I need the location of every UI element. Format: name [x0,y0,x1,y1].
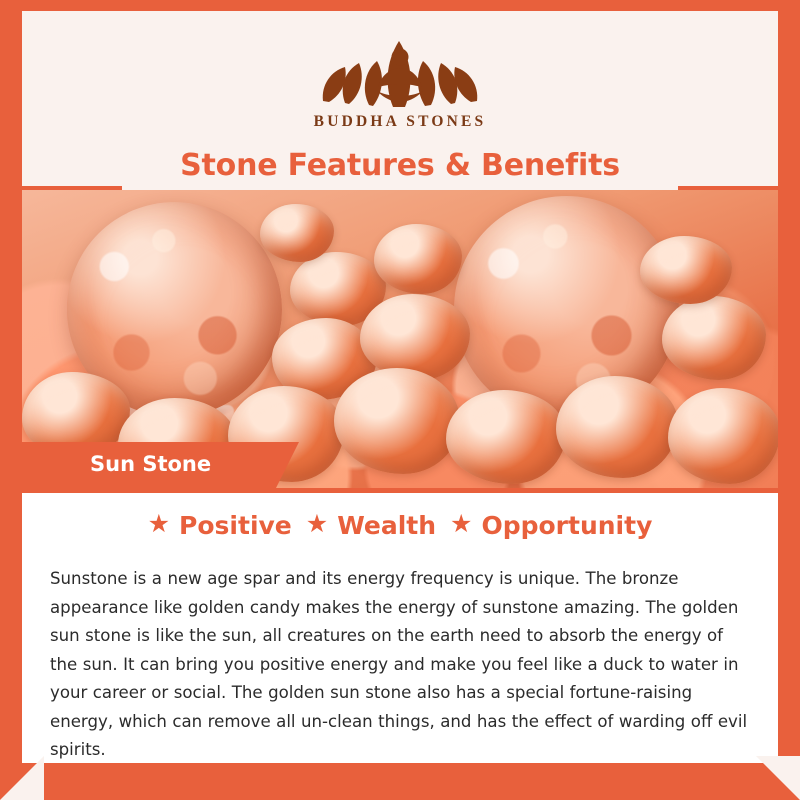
stone-name-tab: Sun Stone [22,442,276,488]
brand-logo-block: BUDDHA STONES [22,27,778,131]
keyword-label: Opportunity [481,511,652,540]
keyword-item-opportunity: ★ Opportunity [450,511,652,540]
page-title: Stone Features & Benefits [180,148,620,183]
corner-notch-left [0,756,44,800]
tumbled-stone [668,388,778,484]
lotus-meditation-icon [22,27,778,111]
tumbled-stone [640,236,732,304]
star-icon: ★ [450,512,472,537]
star-icon: ★ [306,512,328,537]
brand-name: BUDDHA STONES [22,113,778,131]
tumbled-stone [374,224,462,294]
tumbled-stone [662,296,766,380]
corner-notch-right [756,756,800,800]
tumbled-stone [360,294,470,380]
page-title-bar: Stone Features & Benefits [122,140,678,190]
stone-name-label: Sun Stone [90,452,211,476]
infographic-page: BUDDHA STONES Stone Features & Benefits … [0,0,800,800]
keyword-item-wealth: ★ Wealth [306,511,436,540]
tumbled-stone [446,390,566,484]
description-paragraph: Sunstone is a new age spar and its energ… [50,565,750,765]
tumbled-stone [260,204,334,262]
tumbled-stone [556,376,678,478]
keyword-row: ★ Positive ★ Wealth ★ Opportunity [22,511,778,540]
tumbled-stone [334,368,460,474]
description-panel: ★ Positive ★ Wealth ★ Opportunity Sunsto… [22,493,778,763]
star-icon: ★ [148,512,170,537]
keyword-label: Wealth [337,511,436,540]
keyword-label: Positive [179,511,292,540]
keyword-item-positive: ★ Positive [148,511,292,540]
